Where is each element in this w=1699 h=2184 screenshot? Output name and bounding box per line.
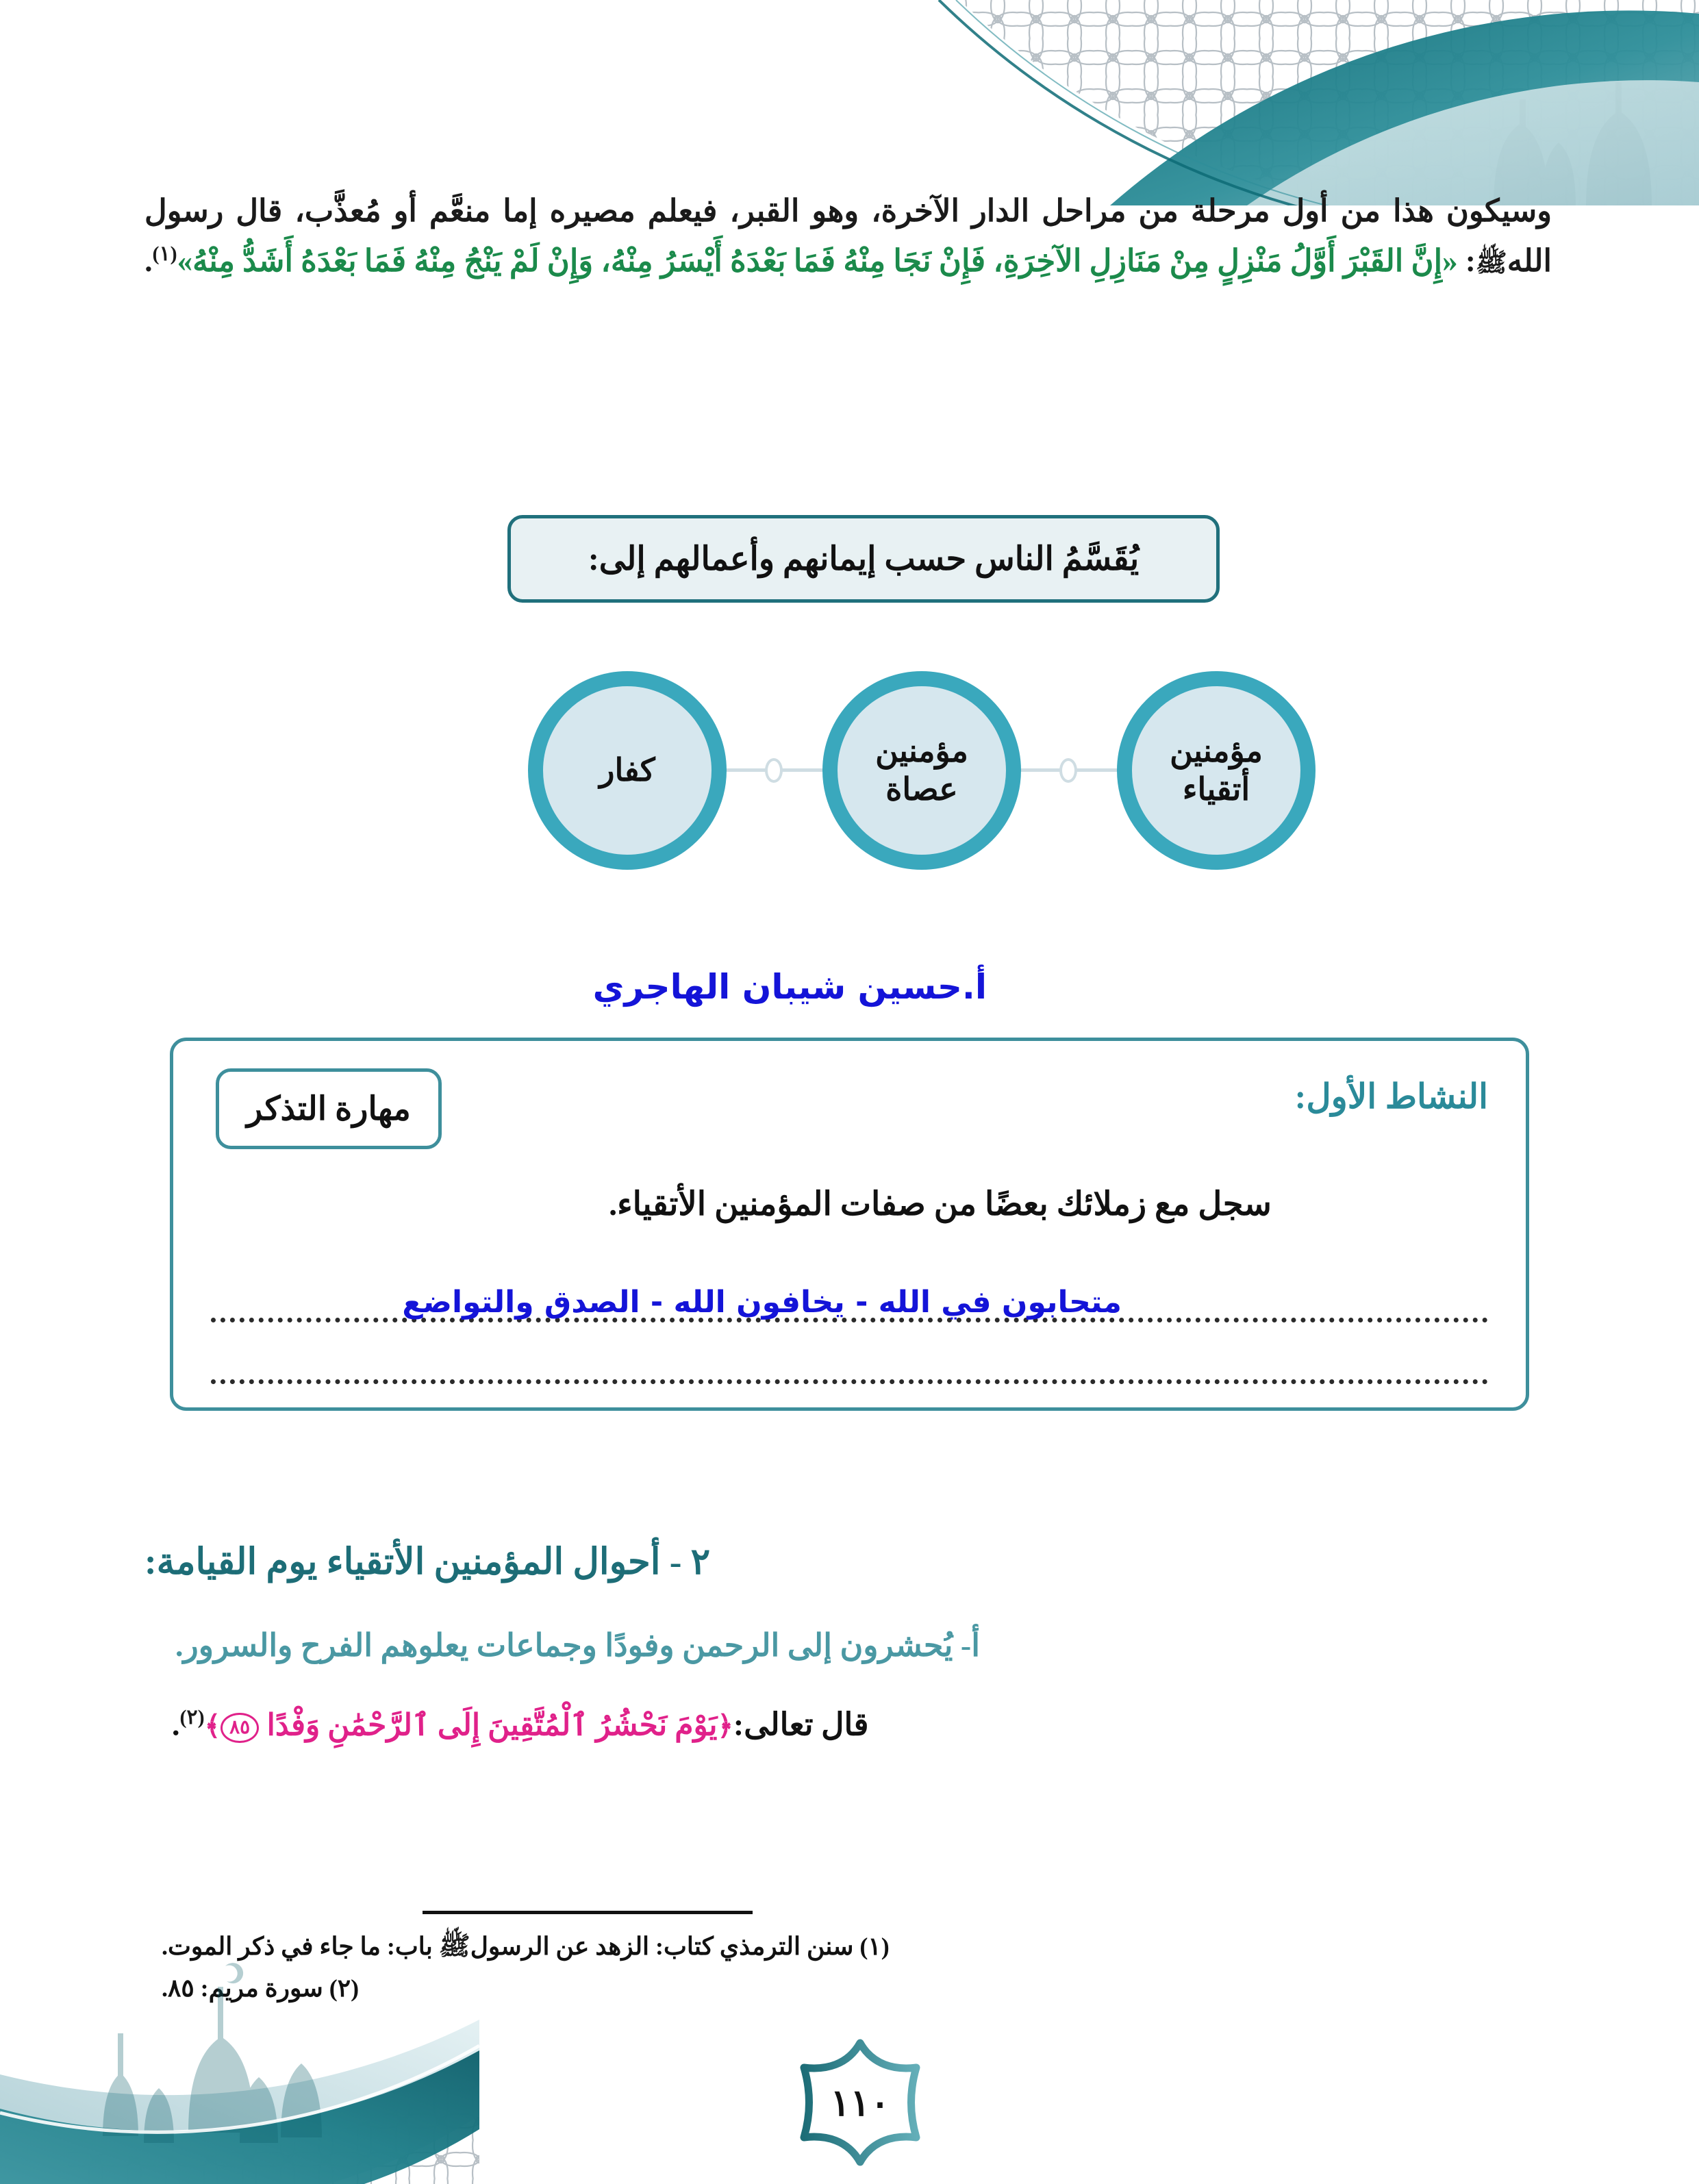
activity-prompt: سجل مع زملائك بعضًا من صفات المؤمنين الأ… [355, 1185, 1526, 1223]
verse-text: يَوْمَ نَحْشُرُ ٱلْمُتَّقِينَ إِلَى ٱلرَ… [267, 1708, 718, 1742]
ayah-number-badge: ٨٥ [221, 1713, 259, 1743]
verse-close-bracket-icon: ﴾ [205, 1710, 221, 1741]
footnotes: (١) سنن الترمذي كتاب: الزهد عن الرسولﷺ ب… [162, 1926, 1699, 2008]
intro-period: . [144, 244, 152, 278]
teacher-name-text: أ.حسين شيبان الهاجري [593, 967, 987, 1007]
quran-verse-line: قال تعالى:﴿يَوْمَ نَحْشُرُ ٱلْمُتَّقِينَ… [172, 1705, 1699, 1743]
footnote-ref-2: (٢) [180, 1706, 205, 1729]
diagram-node-muminin-atqiya: مؤمنين أتقياء [1117, 671, 1316, 870]
skill-badge: مهارة التذكر [216, 1068, 442, 1149]
footnote-item-2: (٢) سورة مريم: ٨٥. [162, 1968, 1699, 2008]
pbuh-icon: ﷺ [1476, 249, 1507, 277]
classification-callout: يُقَسَّمُ الناس حسب إيمانهم وأعمالهم إلى… [507, 515, 1220, 603]
hadith-quote: «إِنَّ القَبْرَ أَوَّلُ مَنْزِلٍ مِنْ مَ… [177, 244, 1458, 278]
intro-colon: : [1465, 244, 1476, 278]
textbook-page: وسيكون هذا من أول مرحلة من مراحل الدار ا… [0, 0, 1699, 2184]
handwritten-answer: متحابون في الله - يخافون الله - الصدق وا… [402, 1285, 1122, 1320]
footnote-ref-1: (١) [152, 242, 177, 265]
page-number-badge: ١١٠ [792, 2037, 929, 2168]
pbuh-icon: ﷺ [439, 1932, 470, 1961]
section-2-item-a: أ- يُحشرون إلى الرحمن وفودًا وجماعات يعل… [175, 1627, 1699, 1664]
diagram-node-muminin-usaah: مؤمنين عصاة [822, 671, 1021, 870]
footnote-1-after: باب: ما جاء في ذكر الموت. [162, 1933, 433, 1960]
diagram-node-label: كفار [599, 751, 655, 790]
answer-blank-line-2[interactable] [211, 1375, 1488, 1384]
footnote-divider [423, 1911, 753, 1914]
callout-text: يُقَسَّمُ الناس حسب إيمانهم وأعمالهم إلى… [588, 540, 1139, 578]
verse-period: . [172, 1707, 180, 1742]
verse-open-bracket-icon: ﴿ [717, 1710, 733, 1741]
diagram-connector-node-1 [1059, 758, 1077, 783]
diagram-node-label: مؤمنين أتقياء [1170, 732, 1263, 809]
diagram-node-kuffar: كفار [528, 671, 727, 870]
activity-title: النشاط الأول: [1295, 1077, 1488, 1116]
teacher-signature: أ.حسين شيبان الهاجري [593, 967, 987, 1007]
section-2-heading: ٢ - أحوال المؤمنين الأتقياء يوم القيامة: [144, 1541, 1699, 1583]
footnote-2-before: (٢) سورة مريم: ٨٥. [162, 1974, 359, 2002]
skill-badge-label: مهارة التذكر [247, 1090, 411, 1128]
page-number: ١١٠ [792, 2037, 929, 2168]
intro-paragraph: وسيكون هذا من أول مرحلة من مراحل الدار ا… [144, 186, 1552, 286]
diagram-connector-node-2 [765, 758, 783, 783]
verse-intro: قال تعالى: [733, 1707, 869, 1742]
classification-diagram: كفار مؤمنين عصاة مؤمنين أتقياء [453, 671, 1316, 877]
activity-box: النشاط الأول: مهارة التذكر سجل مع زملائك… [170, 1038, 1529, 1411]
footnote-1-before: (١) سنن الترمذي كتاب: الزهد عن الرسول [470, 1933, 890, 1960]
diagram-node-label: مؤمنين عصاة [875, 732, 968, 809]
footnote-item-1: (١) سنن الترمذي كتاب: الزهد عن الرسولﷺ ب… [162, 1926, 1699, 1968]
